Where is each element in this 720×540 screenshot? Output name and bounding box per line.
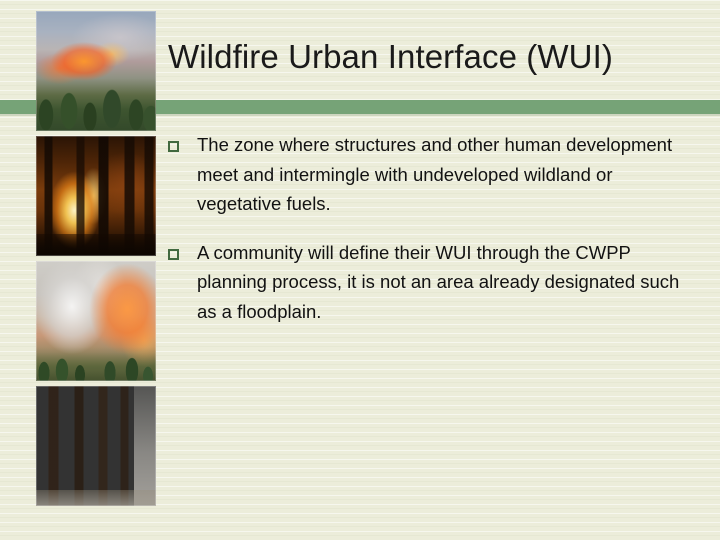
smoke-plume-photo <box>36 261 156 381</box>
crown-fire-photo <box>36 11 156 131</box>
night-forest-fire-photo <box>36 136 156 256</box>
bare-ground <box>36 490 156 506</box>
presentation-slide: Wildfire Urban Interface (WUI) The zone … <box>0 0 720 540</box>
photo-strip <box>36 11 156 511</box>
hollow-square-bullet-icon <box>168 249 179 260</box>
list-item: A community will define their WUI throug… <box>168 238 688 327</box>
slide-title: Wildfire Urban Interface (WUI) <box>168 33 708 83</box>
bullet-list: The zone where structures and other huma… <box>168 130 688 345</box>
conifer-treeline <box>36 73 156 131</box>
bullet-text: The zone where structures and other huma… <box>197 130 688 219</box>
dark-foreground <box>36 234 156 256</box>
conifer-treeline <box>36 347 156 381</box>
tree-trunk-silhouettes <box>36 386 156 506</box>
ground-fire-photo <box>36 386 156 506</box>
list-item: The zone where structures and other huma… <box>168 130 688 219</box>
hollow-square-bullet-icon <box>168 141 179 152</box>
bullet-text: A community will define their WUI throug… <box>197 238 688 327</box>
